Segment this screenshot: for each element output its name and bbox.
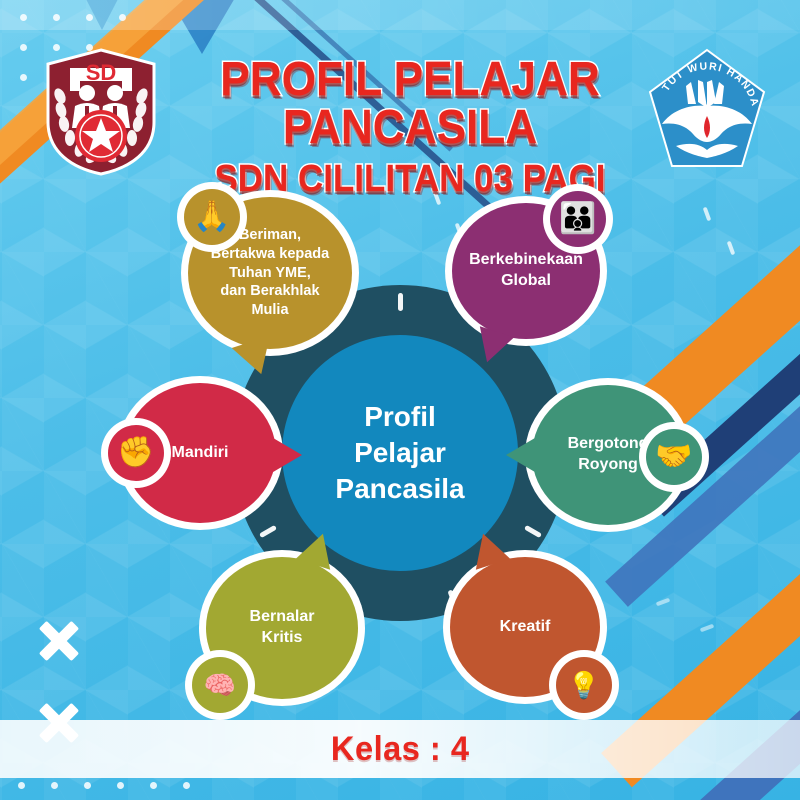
poster-title-block: PROFIL PELAJAR PANCASILA SDN CILILITAN 0… <box>160 56 660 198</box>
critical-thinking-mindmap-icon: 🧠 <box>192 657 248 713</box>
sd-school-shield-logo: SD <box>42 48 160 176</box>
ring-tick-mark <box>398 293 403 311</box>
poster-canvas: SD PROFIL PELAJAR PANCASILA SDN CILILITA… <box>0 0 800 800</box>
dimension-bubble-berkebinekaan-global[interactable]: Berkebinekaan Global 👪 <box>452 203 600 339</box>
lightbulb-idea-icon: 💡 <box>556 657 612 713</box>
dimension-bubble-bernalar-kritis[interactable]: Bernalar Kritis 🧠 <box>206 557 358 699</box>
pancasila-profile-diagram: Profil Pelajar Pancasila Beriman, Bertak… <box>150 185 650 715</box>
group-people-heart-icon: 👪 <box>550 191 606 247</box>
bubble-tail <box>506 435 540 475</box>
dimension-label-berkebinekaan-global: Berkebinekaan Global <box>459 250 593 292</box>
sd-logo-text: SD <box>86 60 117 85</box>
poster-header: SD PROFIL PELAJAR PANCASILA SDN CILILITA… <box>0 0 800 185</box>
class-label: Kelas : 4 <box>331 730 470 769</box>
dimension-label-bernalar-kritis: Bernalar Kritis <box>240 607 325 649</box>
tut-wuri-handayani-logo: TUT WURI HANDAYANI <box>646 46 768 174</box>
dimension-bubble-bergotong-royong[interactable]: Bergotong Royong 🤝 <box>532 385 684 525</box>
class-banner: Kelas : 4 <box>0 720 800 778</box>
raised-fist-icon: ✊ <box>108 425 164 481</box>
bubble-tail <box>268 435 302 475</box>
dimension-bubble-mandiri[interactable]: Mandiri ✊ <box>124 383 276 523</box>
joined-hands-icon: 🤝 <box>646 429 702 485</box>
dimension-bubble-kreatif[interactable]: Kreatif 💡 <box>450 557 600 697</box>
page-title: PROFIL PELAJAR PANCASILA <box>180 56 640 152</box>
dimension-label-bergotong-royong: Bergotong Royong <box>558 434 659 476</box>
decor-dots-row-bottom <box>18 782 190 789</box>
diagram-center-label: Profil Pelajar Pancasila <box>335 399 464 506</box>
dimension-label-mandiri: Mandiri <box>162 443 239 464</box>
praying-hands-icon: 🙏 <box>184 189 240 245</box>
dimension-label-kreatif: Kreatif <box>490 617 561 638</box>
decor-x-mark-1 <box>36 618 82 664</box>
dimension-bubble-beriman[interactable]: Beriman, Bertakwa kepada Tuhan YME, dan … <box>188 197 352 349</box>
